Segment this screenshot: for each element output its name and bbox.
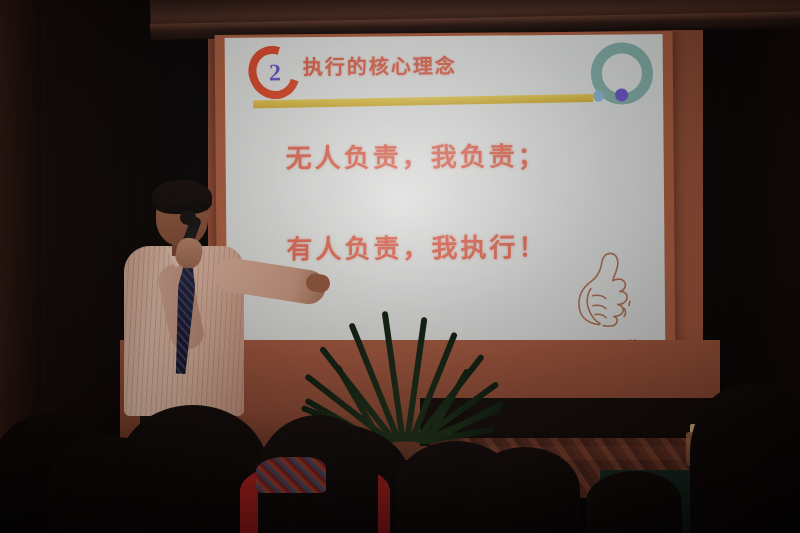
audience-head	[470, 447, 580, 533]
slide-body-line-1: 无人负责，我负责；	[285, 136, 546, 175]
title-underline-bar	[253, 94, 593, 109]
audience-head	[690, 383, 800, 533]
presentation-scene: 2 执行的核心理念 无人负责，我负责； 有人负责，我执行！	[0, 0, 800, 533]
slide-decoration	[585, 42, 642, 106]
blue-dot-icon	[593, 91, 604, 102]
audience-foreground	[0, 353, 800, 533]
slide-title: 执行的核心理念	[303, 50, 457, 80]
presenter-hair	[152, 180, 212, 214]
audience-head	[586, 471, 682, 533]
logo-number: 2	[269, 61, 281, 85]
audience-scarf	[256, 457, 326, 493]
microphone-capsule	[180, 210, 196, 225]
purple-dot-icon	[615, 88, 628, 101]
company-logo: 2	[249, 43, 293, 91]
thumbs-up-icon	[568, 248, 643, 333]
